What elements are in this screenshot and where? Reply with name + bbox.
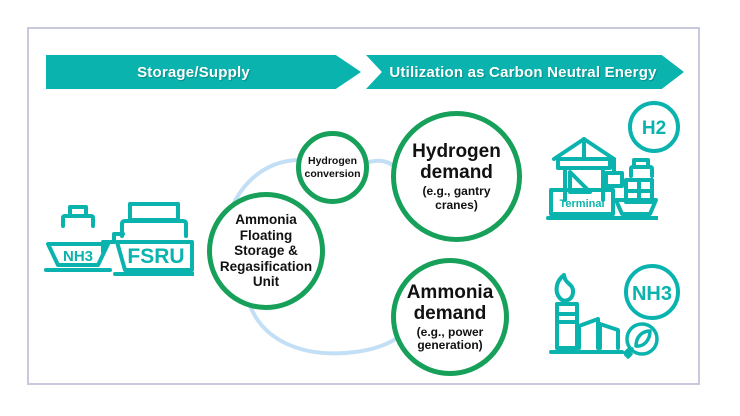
hydrogen-demand-sub-2: cranes) (435, 199, 478, 213)
ammonia-demand-sub-2: generation) (417, 339, 482, 353)
hydrogen-demand-title-1: Hydrogen (412, 141, 501, 162)
ammonia-demand-sub-1: (e.g., power (417, 326, 484, 340)
ammonia-fsru-line-5: Unit (253, 274, 279, 290)
terminal-label: Terminal (559, 198, 604, 210)
hydrogen-demand-title-2: demand (420, 162, 493, 183)
h2-badge-label: H2 (642, 118, 666, 139)
diagram-canvas: Storage/Supply Utilization as Carbon Neu… (0, 0, 740, 416)
ammonia-demand-title-1: Ammonia (407, 282, 494, 303)
h2-badge-icon: H2 (626, 99, 682, 160)
ammonia-fsru-line-2: Floating (240, 228, 293, 244)
hydrogen-conversion-line-2: conversion (304, 168, 360, 181)
leaf-plug-green-energy-icon (617, 318, 665, 371)
banner-utilization: Utilization as Carbon Neutral Energy (366, 55, 684, 89)
node-hydrogen-conversion: Hydrogen conversion (296, 131, 369, 204)
nh3-carrier-label: NH3 (63, 248, 93, 265)
nh3-badge-label: NH3 (632, 283, 672, 305)
power-plant-flame-icon (548, 272, 624, 367)
banner-storage-supply: Storage/Supply (46, 55, 361, 89)
node-ammonia-demand: Ammonia demand (e.g., power generation) (391, 258, 509, 376)
ammonia-fsru-line-3: Storage & (234, 243, 298, 259)
banner-utilization-label: Utilization as Carbon Neutral Energy (389, 64, 656, 81)
hydrogen-conversion-line-1: Hydrogen (308, 155, 357, 168)
ammonia-demand-title-2: demand (414, 303, 487, 324)
flame-leaf-icon (557, 275, 574, 301)
node-ammonia-floating-storage-regasification-unit: Ammonia Floating Storage & Regasificatio… (207, 192, 325, 310)
node-hydrogen-demand: Hydrogen demand (e.g., gantry cranes) (391, 111, 522, 242)
fsru-label: FSRU (127, 245, 184, 268)
ammonia-fsru-line-4: Regasification (220, 259, 312, 275)
ammonia-fsru-line-1: Ammonia (235, 212, 297, 228)
hydrogen-demand-sub-1: (e.g., gantry (422, 185, 490, 199)
ships-icon-group: NH3 FSRU (44, 196, 194, 289)
banner-storage-supply-label: Storage/Supply (137, 64, 250, 81)
